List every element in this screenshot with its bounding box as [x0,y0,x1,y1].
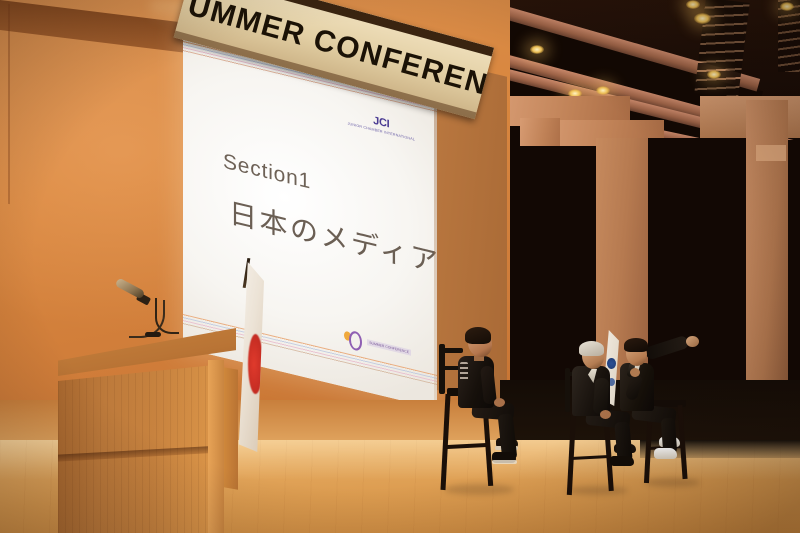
conference-logo-text: SUMMER CONFERENCE [367,339,411,356]
conference-logo-mark-icon [344,327,364,352]
flag-sun-disc-icon [248,334,263,394]
arm [593,378,609,415]
shoe-sole [492,460,517,464]
podium-right-edge [208,360,224,533]
person-right-speaker [618,338,708,498]
podium-microphone [119,288,169,340]
dark-recess [788,140,800,390]
hand [494,398,505,407]
flag-cloth [236,262,264,452]
spotlight-icon [596,86,610,95]
hair-white [579,341,604,356]
hair [465,327,491,344]
podium-body [58,364,224,533]
raised-hand [686,336,699,347]
hand [630,368,640,377]
wall-seam [8,4,10,204]
spotlight-icon [780,2,794,11]
tshirt-sleeve-print [460,362,468,382]
spotlight-icon [707,70,721,79]
microphone-base [145,332,161,337]
slide-section-label: Section1 [223,150,311,195]
hair [624,338,648,352]
stage-photo-scene: JCI JUNIOR CHAMBER INTERNATIONAL Section… [0,0,800,533]
raised-arm-gesture [644,335,690,361]
slide-jci-logo: JCI JUNIOR CHAMBER INTERNATIONAL [348,110,415,142]
spotlight-icon [686,0,700,9]
lectern-podium [58,328,236,533]
white-sneaker [654,448,677,459]
spotlight-icon [694,13,711,24]
spotlight-icon [530,45,544,54]
architectural-block [756,145,786,161]
hand [600,410,611,419]
person-left-panelist [448,330,528,495]
